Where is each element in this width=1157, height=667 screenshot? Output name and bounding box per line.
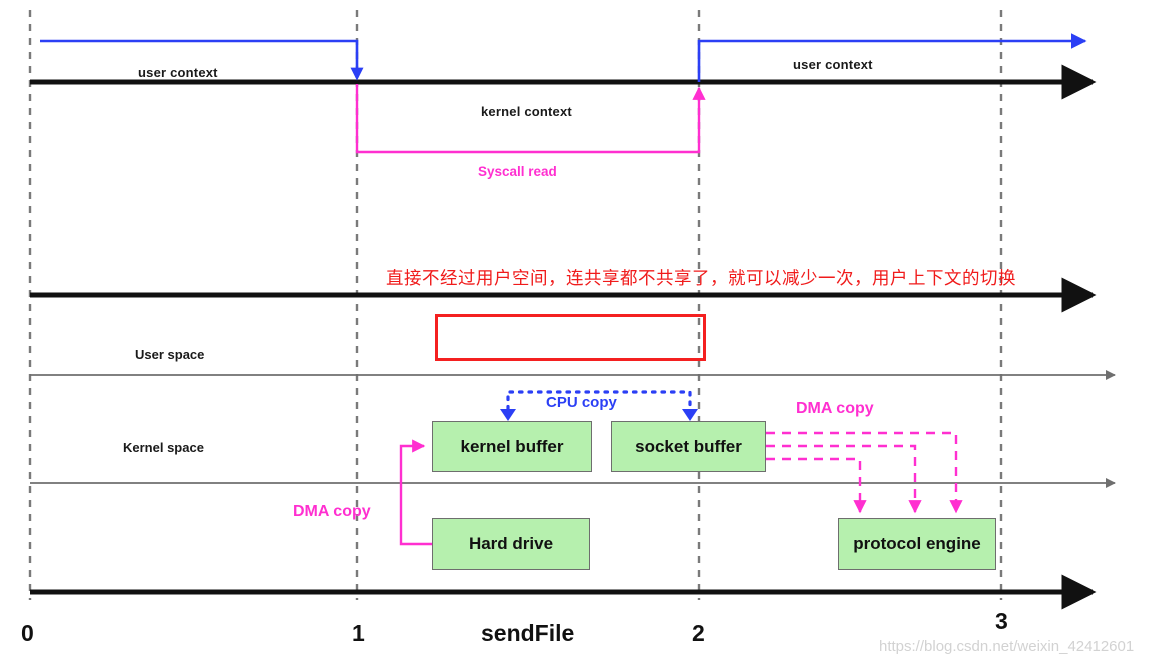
kernel-context-label: kernel context — [481, 105, 572, 118]
axis-tick-1: 1 — [352, 622, 365, 645]
sendfile-caption: sendFile — [481, 622, 574, 645]
axis-tick-0: 0 — [21, 622, 34, 645]
time-gridlines — [30, 10, 1001, 600]
watermark: https://blog.csdn.net/weixin_42412601 — [879, 639, 1134, 654]
dma-copy-right-arrows — [766, 433, 956, 512]
cpu-copy-arrowhead-left — [500, 409, 516, 421]
dma-copy-left-arrow — [401, 446, 432, 544]
kernel-space-label: Kernel space — [123, 441, 204, 454]
dma-route-middle — [766, 446, 915, 512]
dma-route-inner — [766, 459, 860, 512]
red-annotation-note: 直接不经过用户空间，连共享都不共享了，就可以减少一次，用户上下文的切换 — [386, 271, 1016, 289]
box-kernel-buffer[interactable]: kernel buffer — [432, 421, 592, 472]
user-context-trace-right — [699, 41, 1085, 82]
box-protocol-engine[interactable]: protocol engine — [838, 518, 996, 570]
user-context-label-left: user context — [138, 66, 218, 79]
box-socket-buffer[interactable]: socket buffer — [611, 421, 766, 472]
dma-copy-label-right: DMA copy — [796, 401, 874, 417]
diagram-canvas: user context user context kernel context… — [0, 0, 1157, 667]
axis-tick-2: 2 — [692, 622, 705, 645]
dma-copy-label-left: DMA copy — [293, 504, 371, 520]
box-hard-drive[interactable]: Hard drive — [432, 518, 590, 570]
cpu-copy-arrowhead-right — [682, 409, 698, 421]
user-space-label: User space — [135, 348, 204, 361]
user-context-label-right: user context — [793, 58, 873, 71]
syscall-read-label: Syscall read — [478, 165, 557, 179]
user-space-highlight-rect — [435, 314, 706, 361]
cpu-copy-label: CPU copy — [546, 395, 617, 410]
axis-tick-3: 3 — [995, 610, 1008, 633]
